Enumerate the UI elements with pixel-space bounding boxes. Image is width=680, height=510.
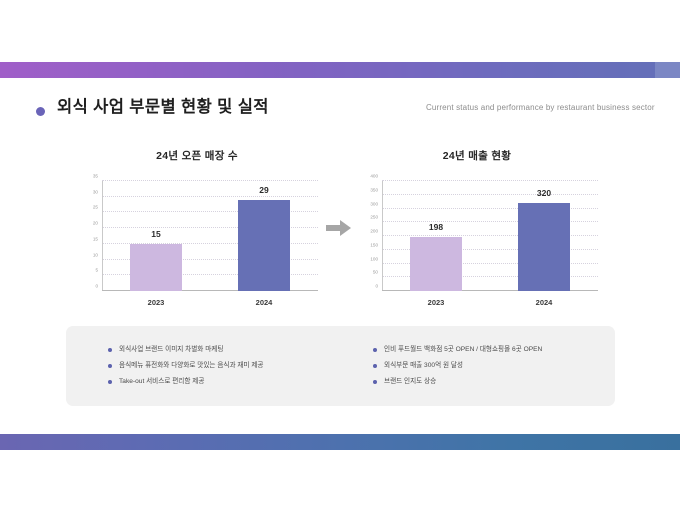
notes-column-right: 인비 푸드월드 백화점 5곳 OPEN / 대형쇼핑몰 6곳 OPEN외식부문 … [371, 342, 621, 390]
note-list-item: 브랜드 인지도 상승 [371, 374, 621, 390]
note-list-item-label: 외식부문 매출 300억 원 달성 [384, 362, 463, 369]
y-axis [382, 181, 383, 291]
chart-plot-area: 05010015020025030035040019820233202024 [382, 181, 598, 291]
top-decorative-bar [0, 62, 680, 78]
chart-title: 24년 매출 현황 [352, 148, 602, 163]
x-axis-tick-label: 2024 [536, 298, 553, 307]
chart-revenue: 24년 매출 현황 050100150200250300350400198202… [352, 148, 602, 313]
bar-2023: 198 [410, 237, 462, 291]
y-axis-tick-label: 0 [375, 284, 378, 289]
gridline [382, 180, 598, 181]
y-axis-tick-label: 150 [370, 242, 378, 247]
y-axis-tick-label: 20 [93, 221, 98, 226]
gridline [102, 196, 318, 197]
note-list-item-label: 브랜드 인지도 상승 [384, 378, 436, 385]
y-axis-tick-label: 30 [93, 189, 98, 194]
bullet-dot-icon [373, 380, 377, 384]
note-list-item: 외식부문 매출 300억 원 달성 [371, 358, 621, 374]
x-axis-tick-label: 2024 [256, 298, 273, 307]
page-subtitle: Current status and performance by restau… [426, 101, 655, 115]
note-list-item: 인비 푸드월드 백화점 5곳 OPEN / 대형쇼핑몰 6곳 OPEN [371, 342, 621, 358]
slide-canvas: 외식 사업 부문별 현황 및 실적 Current status and per… [0, 0, 680, 510]
y-axis-tick-label: 50 [373, 270, 378, 275]
bullet-dot-icon [108, 364, 112, 368]
y-axis-tick-label: 0 [95, 284, 98, 289]
bottom-decorative-bar [0, 434, 680, 450]
note-list-item-label: 음식메뉴 퓨전화와 다양화로 맛있는 음식과 재미 제공 [119, 362, 263, 369]
bullet-dot-icon [108, 348, 112, 352]
bullet-dot-icon [373, 364, 377, 368]
y-axis-tick-label: 400 [370, 174, 378, 179]
top-decorative-bar-cap [655, 62, 680, 78]
y-axis-tick-label: 250 [370, 215, 378, 220]
note-list-item-label: 인비 푸드월드 백화점 5곳 OPEN / 대형쇼핑몰 6곳 OPEN [384, 346, 542, 353]
bar-value-label: 320 [518, 188, 570, 198]
y-axis-tick-label: 15 [93, 236, 98, 241]
note-list-item: Take-out 서비스로 편리함 제공 [106, 374, 351, 390]
bar-2024: 29 [238, 200, 290, 291]
page-title: 외식 사업 부문별 현황 및 실적 [57, 94, 269, 120]
y-axis-tick-label: 100 [370, 256, 378, 261]
bar-value-label: 15 [130, 229, 182, 239]
x-axis-tick-label: 2023 [148, 298, 165, 307]
x-axis-tick-label: 2023 [428, 298, 445, 307]
note-list-item: 음식메뉴 퓨전화와 다양화로 맛있는 음식과 재미 제공 [106, 358, 351, 374]
slide-header: 외식 사업 부문별 현황 및 실적 Current status and per… [0, 94, 680, 128]
gridline [102, 180, 318, 181]
y-axis-tick-label: 25 [93, 205, 98, 210]
note-list-item-label: 외식사업 브랜드 이미지 차별화 마케팅 [119, 346, 223, 353]
y-axis-tick-label: 10 [93, 252, 98, 257]
chart-plot-area: 05101520253035152023292024 [102, 181, 318, 291]
y-axis-tick-label: 350 [370, 187, 378, 192]
y-axis [102, 181, 103, 291]
y-axis-tick-label: 35 [93, 174, 98, 179]
bar-2024: 320 [518, 203, 570, 291]
bar-value-label: 198 [410, 222, 462, 232]
notes-panel: 외식사업 브랜드 이미지 차별화 마케팅음식메뉴 퓨전화와 다양화로 맛있는 음… [66, 326, 615, 406]
bar-value-label: 29 [238, 185, 290, 195]
note-list-item-label: Take-out 서비스로 편리함 제공 [119, 378, 204, 385]
bullet-dot-icon [108, 380, 112, 384]
chart-open-stores: 24년 오픈 매장 수 05101520253035152023292024 [72, 148, 322, 313]
bar-2023: 15 [130, 244, 182, 291]
arrow-right-icon [326, 218, 352, 238]
y-axis-tick-label: 300 [370, 201, 378, 206]
y-axis-tick-label: 200 [370, 229, 378, 234]
note-list-item: 외식사업 브랜드 이미지 차별화 마케팅 [106, 342, 351, 358]
y-axis-tick-label: 5 [95, 268, 98, 273]
chart-title: 24년 오픈 매장 수 [72, 148, 322, 163]
bullet-dot-icon [36, 107, 45, 116]
notes-column-left: 외식사업 브랜드 이미지 차별화 마케팅음식메뉴 퓨전화와 다양화로 맛있는 음… [106, 342, 351, 390]
bullet-dot-icon [373, 348, 377, 352]
